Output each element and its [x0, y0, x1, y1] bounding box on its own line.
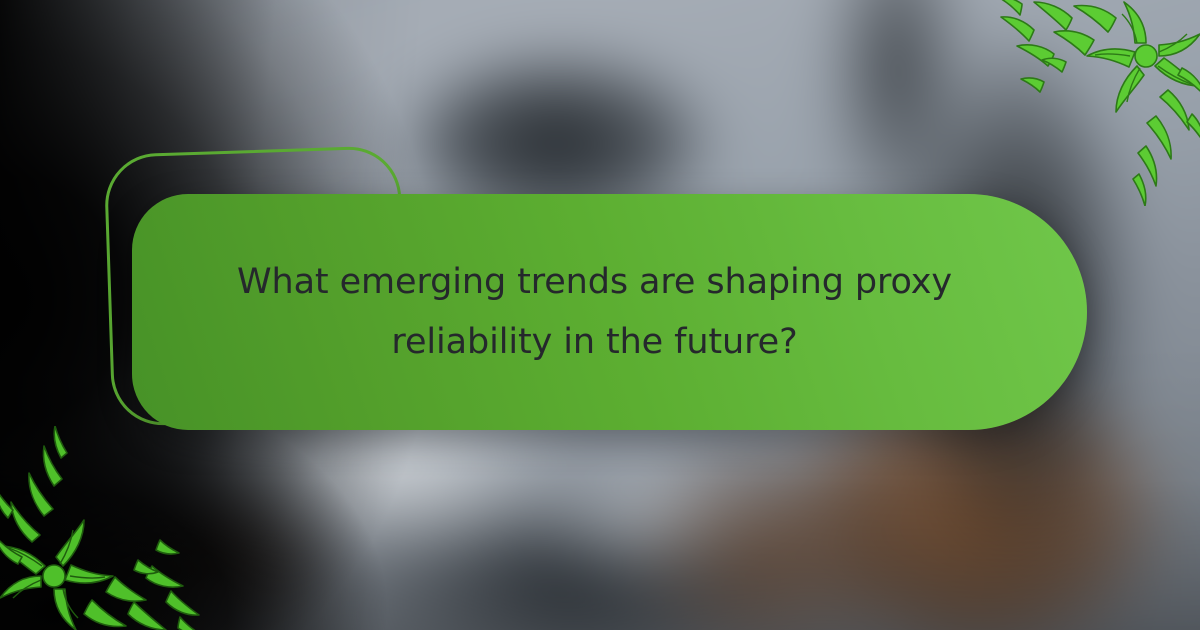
share-card-canvas: What emerging trends are shaping proxy r… [0, 0, 1200, 630]
question-title: What emerging trends are shaping proxy r… [222, 252, 967, 372]
question-card: What emerging trends are shaping proxy r… [132, 194, 1087, 430]
